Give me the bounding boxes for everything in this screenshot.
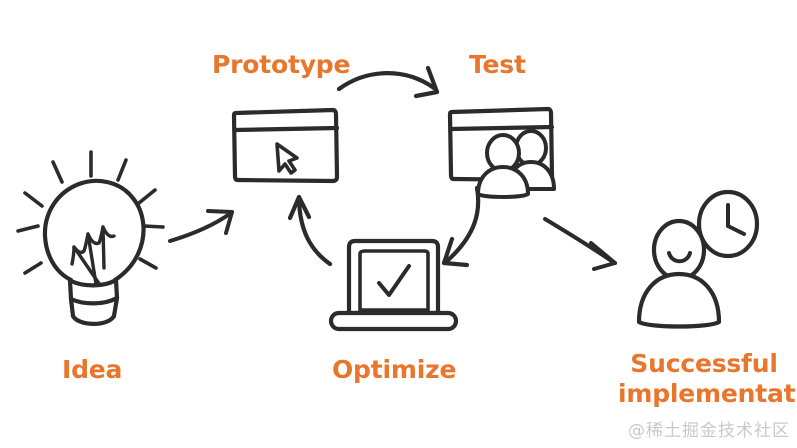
diagram-canvas: Prototype Test Idea Optimize Successful … <box>0 0 797 448</box>
person-clock-icon <box>639 192 757 327</box>
laptop-checkmark-icon <box>331 241 456 329</box>
browser-window-users-icon <box>450 109 554 197</box>
label-optimize: Optimize <box>332 355 456 385</box>
arrow-test-to-success <box>545 219 615 269</box>
arrow-idea-to-prototype <box>170 211 232 241</box>
arrow-optimize-to-prototype <box>290 197 330 264</box>
label-idea: Idea <box>62 355 122 385</box>
label-test: Test <box>469 50 526 80</box>
lightbulb-icon <box>18 152 163 324</box>
label-success: Successful implementation <box>618 349 790 408</box>
arrow-prototype-to-test <box>339 68 437 96</box>
label-prototype: Prototype <box>212 50 350 80</box>
arrow-test-to-optimize <box>444 188 478 265</box>
browser-window-cursor-icon <box>234 110 337 181</box>
watermark: @稀土掘金技术社区 <box>628 416 790 441</box>
